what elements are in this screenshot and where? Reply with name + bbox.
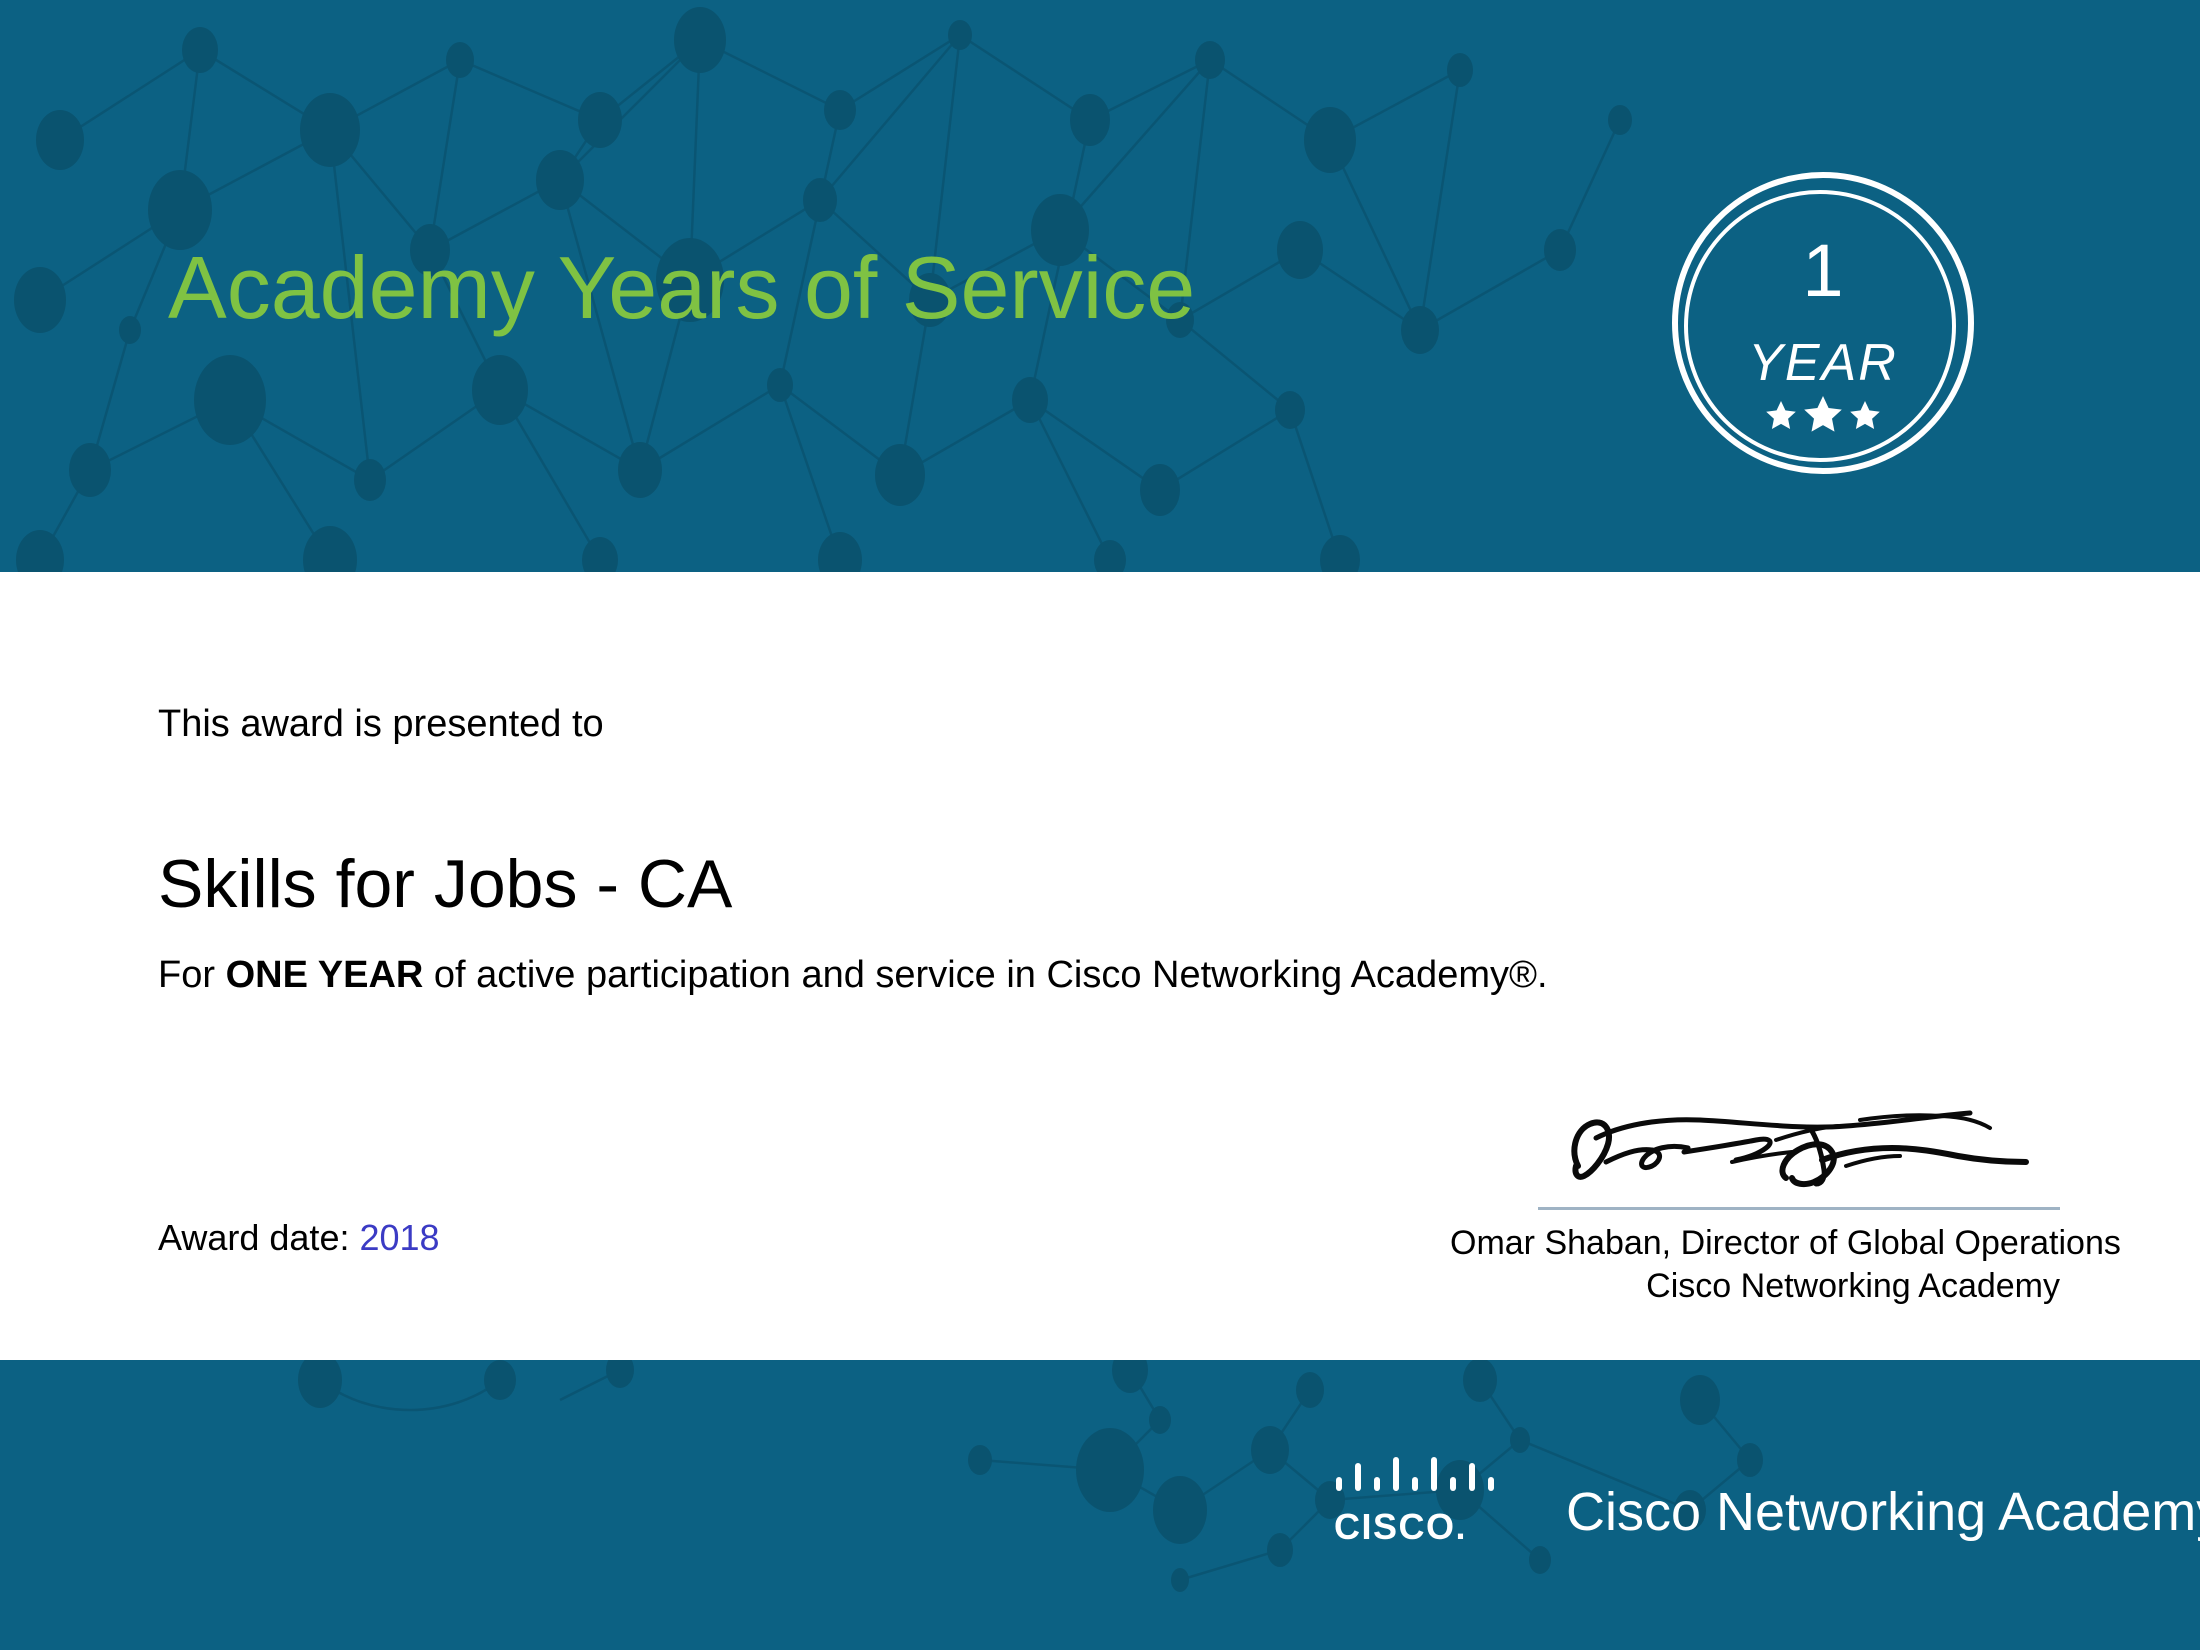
service-suffix: of active participation and service in C… <box>423 954 1547 996</box>
recipient-name: Skills for Jobs - CA <box>158 850 732 918</box>
svg-text:CISCO.: CISCO. <box>1334 1506 1467 1547</box>
svg-text:1: 1 <box>1802 229 1843 312</box>
award-date: Award date: 2018 <box>158 1217 440 1259</box>
years-of-service-badge: 1 YEAR <box>1668 168 1978 478</box>
service-prefix: For <box>158 954 226 996</box>
signature-rule <box>1538 1207 2060 1210</box>
cisco-networking-academy-wordmark: Cisco Networking Academy® <box>1566 1485 2200 1539</box>
handwritten-signature-icon <box>1560 1100 2050 1200</box>
cisco-bridge-logo-icon: CISCO. <box>1332 1455 1518 1547</box>
cisco-logo: CISCO. Cisco Networking Academy® <box>1332 1455 2200 1547</box>
signer-organization: Cisco Networking Academy <box>1450 1267 2060 1306</box>
presented-to-label: This award is presented to <box>158 703 604 746</box>
header-band: Academy Years of Service 1 YEAR <box>0 0 2200 572</box>
page-title: Academy Years of Service <box>168 244 1195 332</box>
award-date-value: 2018 <box>359 1217 439 1258</box>
footer-band: CISCO. Cisco Networking Academy® <box>0 1360 2200 1650</box>
service-emphasis: ONE YEAR <box>226 954 424 996</box>
award-date-label: Award date: <box>158 1217 349 1258</box>
academy-wordmark-text: Cisco Networking Academy <box>1566 1482 2200 1542</box>
certificate-page: Academy Years of Service 1 YEAR This awa… <box>0 0 2200 1650</box>
signer-name-and-title: Omar Shaban, Director of Global Operatio… <box>1450 1224 2060 1263</box>
service-statement: For ONE YEAR of active participation and… <box>158 954 1548 997</box>
certificate-body: This award is presented to Skills for Jo… <box>0 572 2200 1360</box>
svg-text:YEAR: YEAR <box>1748 334 1898 392</box>
signature-strokes <box>1560 1100 2050 1200</box>
badge-seal-icon: 1 YEAR <box>1668 168 1978 478</box>
